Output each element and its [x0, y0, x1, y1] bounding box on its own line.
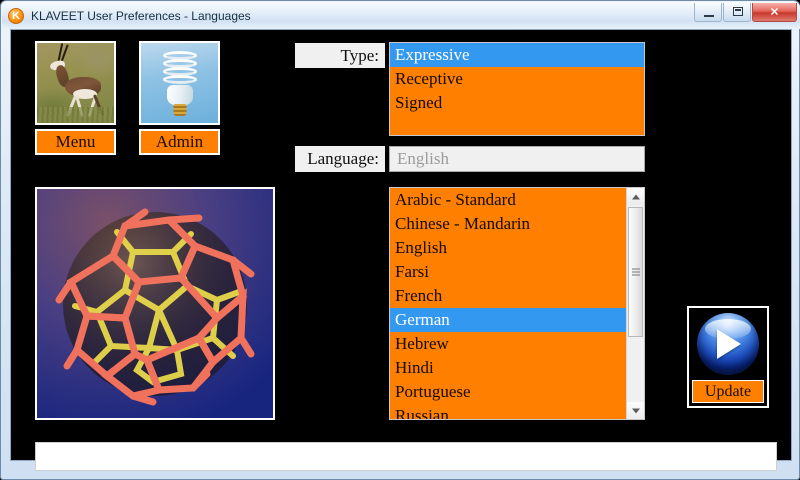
language-listbox[interactable]: Arabic - Standard Chinese - Mandarin Eng…: [389, 187, 645, 420]
grass-foreground: [37, 107, 114, 123]
application-window: K KLAVEET User Preferences - Languages ✕: [0, 0, 800, 480]
language-input-placeholder: English: [397, 149, 449, 169]
restore-icon: [733, 7, 743, 16]
close-icon: ✕: [753, 6, 796, 19]
language-option[interactable]: Chinese - Mandarin: [390, 212, 626, 236]
language-option[interactable]: Farsi: [390, 260, 626, 284]
fullerene-svg: [37, 189, 273, 418]
language-label: Language:: [295, 146, 385, 172]
language-option[interactable]: French: [390, 284, 626, 308]
cfl-bulb-illustration: [141, 43, 218, 123]
language-list-viewport: Arabic - Standard Chinese - Mandarin Eng…: [390, 188, 626, 419]
admin-button-label[interactable]: Admin: [139, 129, 220, 155]
update-button[interactable]: Update: [687, 306, 769, 408]
type-option[interactable]: Signed: [390, 91, 644, 115]
maximize-button[interactable]: [723, 3, 751, 22]
language-option[interactable]: German: [390, 308, 626, 332]
language-option[interactable]: Portuguese: [390, 380, 626, 404]
window-title: KLAVEET User Preferences - Languages: [31, 9, 251, 23]
bulb-coil: [163, 75, 197, 84]
title-bar: K KLAVEET User Preferences - Languages ✕: [2, 2, 800, 29]
language-list-scrollbar[interactable]: [626, 188, 644, 419]
antelope-illustration: [37, 43, 114, 123]
scrollbar-thumb[interactable]: [628, 207, 643, 337]
close-button[interactable]: ✕: [752, 3, 797, 22]
klaveet-logo-icon: K: [8, 8, 24, 24]
type-option[interactable]: Expressive: [390, 43, 644, 67]
minimize-button[interactable]: [694, 3, 722, 22]
client-area: Menu Admin: [10, 29, 792, 461]
antelope-photo: [35, 41, 116, 125]
bulb-spiral: [163, 51, 197, 87]
minimize-icon: [704, 15, 714, 17]
menu-button[interactable]: Menu: [35, 41, 116, 155]
scroll-down-icon[interactable]: [627, 402, 644, 419]
language-option[interactable]: English: [390, 236, 626, 260]
play-orb-icon: [692, 311, 764, 377]
admin-button[interactable]: Admin: [139, 41, 220, 155]
type-listbox[interactable]: Expressive Receptive Signed: [389, 42, 645, 136]
language-option[interactable]: Hebrew: [390, 332, 626, 356]
type-label: Type:: [295, 43, 385, 68]
menu-button-label[interactable]: Menu: [35, 129, 116, 155]
light-bulb-photo: [139, 41, 220, 125]
bulb-base: [167, 85, 193, 105]
language-option[interactable]: Arabic - Standard: [390, 188, 626, 212]
scroll-up-icon[interactable]: [627, 188, 644, 205]
language-option[interactable]: Russian: [390, 404, 626, 419]
type-option[interactable]: Receptive: [390, 67, 644, 91]
status-bar: [35, 442, 777, 471]
play-triangle-icon: [717, 329, 741, 359]
bulb-screw-cap: [173, 104, 186, 116]
update-button-label[interactable]: Update: [692, 380, 764, 403]
window-controls: ✕: [694, 3, 797, 22]
language-input[interactable]: English: [389, 146, 645, 172]
fullerene-molecule-image: [35, 187, 275, 420]
language-option[interactable]: Hindi: [390, 356, 626, 380]
